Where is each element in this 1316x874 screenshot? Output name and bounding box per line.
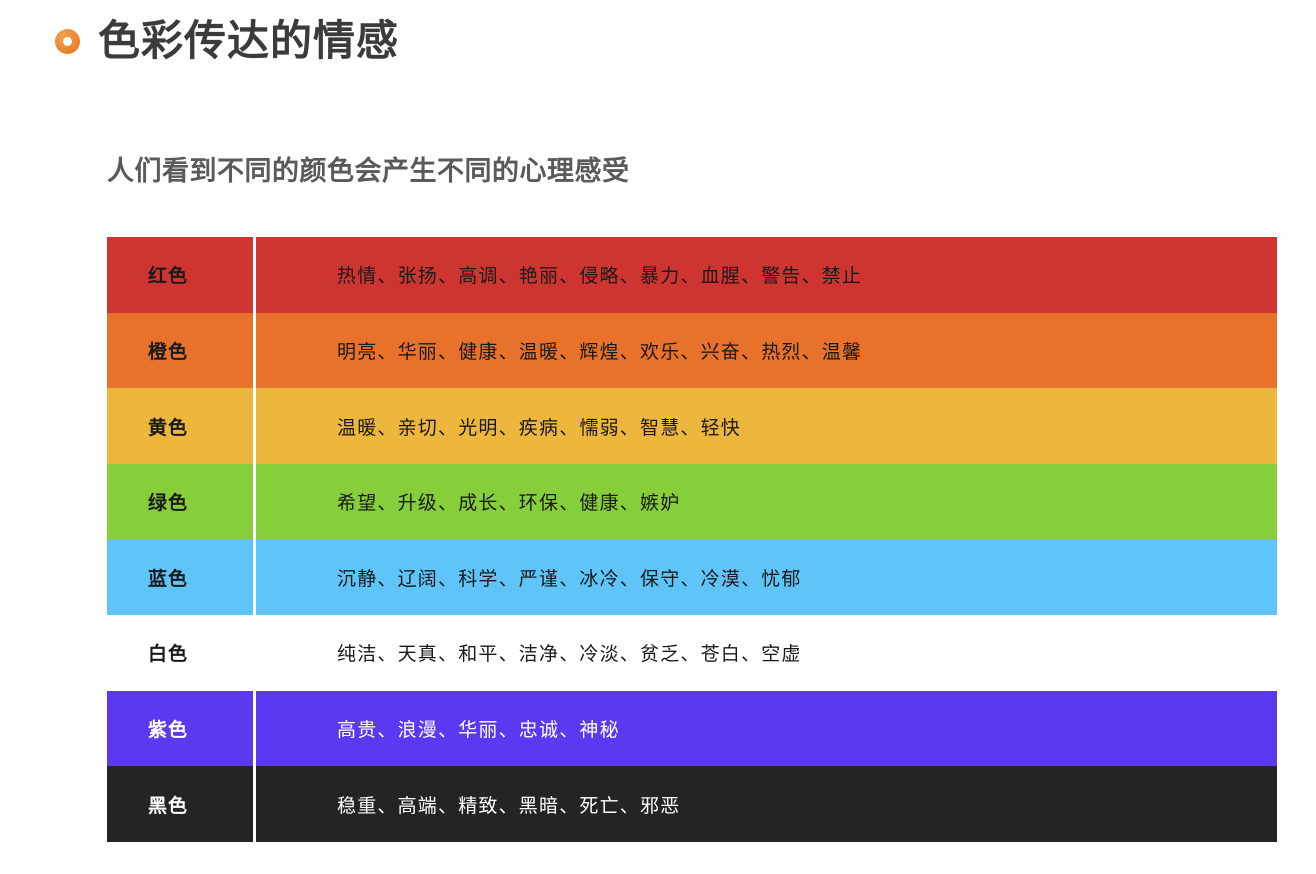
table-row: 白色纯洁、天真、和平、洁净、冷淡、贫乏、苍白、空虚 xyxy=(107,615,1277,691)
color-name-cell: 紫色 xyxy=(107,691,253,767)
slide-subtitle: 人们看到不同的颜色会产生不同的心理感受 xyxy=(107,155,630,187)
donut-bullet-icon xyxy=(55,29,80,54)
slide-header: 色彩传达的情感 xyxy=(55,20,399,62)
color-name-cell: 橙色 xyxy=(107,313,253,389)
color-name-cell: 白色 xyxy=(107,615,253,691)
table-row: 紫色高贵、浪漫、华丽、忠诚、神秘 xyxy=(107,691,1277,767)
color-name-cell: 黄色 xyxy=(107,388,253,464)
table-row: 黑色稳重、高端、精致、黑暗、死亡、邪恶 xyxy=(107,766,1277,842)
table-row: 橙色明亮、华丽、健康、温暖、辉煌、欢乐、兴奋、热烈、温馨 xyxy=(107,313,1277,389)
color-name-cell: 黑色 xyxy=(107,766,253,842)
table-row: 蓝色沉静、辽阔、科学、严谨、冰冷、保守、冷漠、忧郁 xyxy=(107,540,1277,616)
color-description-cell: 纯洁、天真、和平、洁净、冷淡、贫乏、苍白、空虚 xyxy=(256,615,1277,691)
color-name-cell: 绿色 xyxy=(107,464,253,540)
color-description-cell: 希望、升级、成长、环保、健康、嫉妒 xyxy=(256,464,1277,540)
color-description-cell: 温暖、亲切、光明、疾病、懦弱、智慧、轻快 xyxy=(256,388,1277,464)
color-description-cell: 热情、张扬、高调、艳丽、侵略、暴力、血腥、警告、禁止 xyxy=(256,237,1277,313)
color-name-cell: 红色 xyxy=(107,237,253,313)
table-row: 绿色希望、升级、成长、环保、健康、嫉妒 xyxy=(107,464,1277,540)
color-emotion-table: 红色热情、张扬、高调、艳丽、侵略、暴力、血腥、警告、禁止橙色明亮、华丽、健康、温… xyxy=(107,237,1277,842)
table-row: 红色热情、张扬、高调、艳丽、侵略、暴力、血腥、警告、禁止 xyxy=(107,237,1277,313)
page-title: 色彩传达的情感 xyxy=(98,20,399,62)
color-description-cell: 明亮、华丽、健康、温暖、辉煌、欢乐、兴奋、热烈、温馨 xyxy=(256,313,1277,389)
color-description-cell: 高贵、浪漫、华丽、忠诚、神秘 xyxy=(256,691,1277,767)
color-description-cell: 稳重、高端、精致、黑暗、死亡、邪恶 xyxy=(256,766,1277,842)
color-name-cell: 蓝色 xyxy=(107,540,253,616)
color-description-cell: 沉静、辽阔、科学、严谨、冰冷、保守、冷漠、忧郁 xyxy=(256,540,1277,616)
slide-canvas: 色彩传达的情感 人们看到不同的颜色会产生不同的心理感受 红色热情、张扬、高调、艳… xyxy=(0,0,1316,874)
table-row: 黄色温暖、亲切、光明、疾病、懦弱、智慧、轻快 xyxy=(107,388,1277,464)
